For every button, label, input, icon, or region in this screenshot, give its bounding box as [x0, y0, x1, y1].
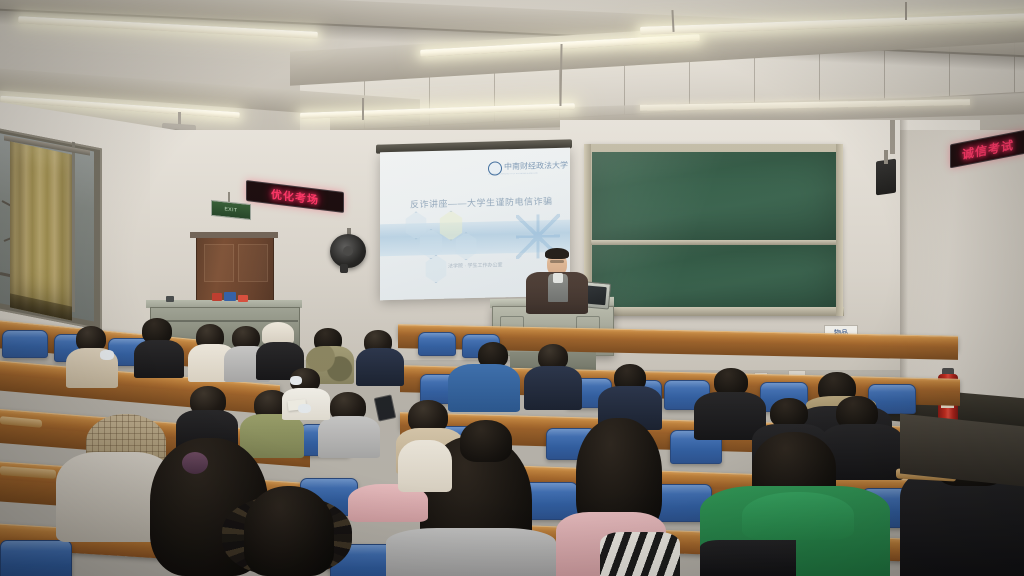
student-head-22	[244, 486, 334, 576]
wall-corner-shadow	[900, 120, 908, 420]
student-body-2	[134, 340, 184, 378]
student-cap-white	[262, 322, 294, 344]
blackboard-rail-right	[836, 144, 843, 316]
door-panel-tl	[204, 244, 234, 282]
light-hanger-4	[362, 98, 364, 120]
student-hood	[742, 492, 854, 540]
cabinet-item-red-2	[238, 295, 248, 302]
light-hanger-2	[905, 2, 907, 20]
chair-b1[interactable]	[418, 332, 456, 356]
presenter-shirt-collar	[553, 273, 563, 283]
lecture-hall-photo: 优化考场 诚信考试 EXIT 中南财经政法大学 ZHONGNAN UNIVERS…	[0, 0, 1024, 576]
face-mask-2	[290, 376, 302, 385]
student-body-28	[700, 540, 796, 576]
wall-speaker-pole	[890, 120, 895, 154]
student-body-25	[398, 440, 452, 492]
exit-sign-stem	[228, 192, 230, 202]
wall-speaker-arm	[884, 150, 888, 164]
student-body-9	[524, 366, 582, 410]
chair-a1[interactable]	[2, 330, 48, 358]
wall-speaker	[876, 159, 896, 196]
slide-logo-subtext: ZHONGNAN UNIVERSITY OF ECONOMICS AND LAW	[488, 172, 556, 177]
slide-hexagon-5	[424, 255, 448, 284]
face-mask-1	[100, 350, 114, 360]
window-mullion	[72, 142, 75, 313]
student-scrunchie	[182, 452, 208, 474]
cabinet-item-blue	[224, 292, 236, 301]
student-body-14	[240, 414, 304, 458]
student-body-7	[356, 348, 404, 386]
cabinet-item-dark	[166, 296, 174, 302]
exit-sign-text: EXIT	[224, 206, 237, 213]
door-panel-tr	[238, 244, 268, 282]
face-mask-3	[298, 404, 311, 413]
slide-logo-text: 中南财经政法大学	[504, 160, 568, 173]
window-curtain	[10, 141, 72, 320]
chair-f1[interactable]	[0, 540, 72, 576]
student-head-26	[460, 420, 512, 462]
right-wall	[900, 130, 1024, 420]
blackboard-chalk-tray	[584, 307, 844, 316]
presenter-hair	[545, 248, 569, 259]
fan-base	[340, 264, 348, 273]
student-body-8	[448, 364, 520, 412]
student-body-23	[386, 528, 556, 576]
slide-footer-text: 法学院 · 学生工作办公室	[448, 261, 502, 269]
blackboard-gloss	[592, 152, 836, 307]
student-phone[interactable]	[374, 394, 397, 421]
presenter-glasses	[550, 260, 564, 263]
fan-hub	[343, 246, 353, 256]
led-sign-left-text: 优化考场	[271, 186, 319, 208]
student-body-15	[318, 416, 380, 458]
door-frame-top	[190, 232, 278, 238]
student-striped-top	[600, 532, 680, 576]
slide-title: 反诈讲座——大学生谨防电信诈骗	[410, 194, 553, 210]
cabinet-item-red	[212, 293, 222, 301]
